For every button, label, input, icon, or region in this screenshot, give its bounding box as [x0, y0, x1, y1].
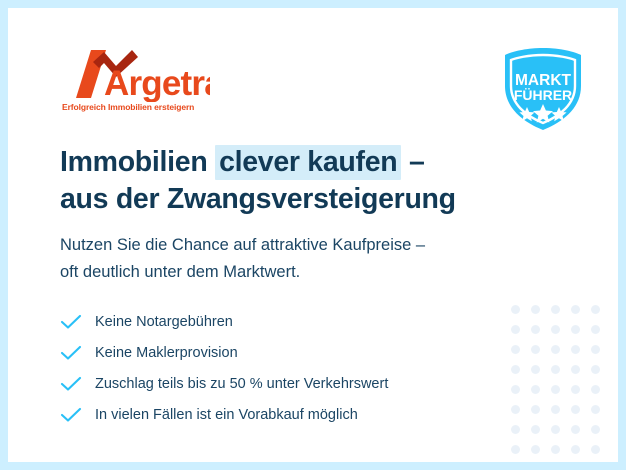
dot — [551, 365, 560, 374]
badge-line2: FÜHRER — [514, 87, 572, 103]
dot — [551, 445, 560, 454]
dot — [511, 425, 520, 434]
dot — [531, 425, 540, 434]
dot — [571, 425, 580, 434]
dot — [591, 365, 600, 374]
headline-line-1-after: – — [401, 146, 424, 178]
dot — [531, 445, 540, 454]
dot — [591, 305, 600, 314]
headline-line-2: aus der Zwangsversteigerung — [60, 181, 560, 218]
check-icon — [60, 345, 82, 361]
dot — [571, 345, 580, 354]
headline-line-1: Immobilien clever kaufen – — [60, 144, 560, 181]
dot — [531, 345, 540, 354]
list-item: In vielen Fällen ist ein Vorabkauf mögli… — [60, 399, 388, 430]
dot — [511, 385, 520, 394]
dot — [551, 425, 560, 434]
markt-fuehrer-badge: MARKT FÜHRER — [501, 46, 585, 132]
check-icon — [60, 314, 82, 330]
headline-highlight: clever kaufen — [215, 145, 401, 180]
list-item-label: Keine Notargebühren — [95, 314, 233, 330]
dot — [531, 405, 540, 414]
dot — [571, 305, 580, 314]
shield-icon: MARKT FÜHRER — [501, 46, 585, 132]
dot — [531, 365, 540, 374]
dot — [511, 305, 520, 314]
dot — [511, 405, 520, 414]
dot-grid-decoration — [506, 300, 606, 460]
dot — [511, 445, 520, 454]
check-icon — [60, 407, 82, 423]
dot — [591, 445, 600, 454]
dot — [511, 345, 520, 354]
subtitle-line-2: oft deutlich unter dem Marktwert. — [60, 259, 560, 286]
dot — [551, 305, 560, 314]
dot — [571, 385, 580, 394]
dot — [551, 325, 560, 334]
dot — [571, 405, 580, 414]
dot — [591, 345, 600, 354]
dot — [571, 445, 580, 454]
argetra-logo-mark: Argetra — [60, 50, 210, 102]
dot — [571, 325, 580, 334]
list-item: Keine Notargebühren — [60, 306, 388, 337]
argetra-logo[interactable]: Argetra Erfolgreich Immobilien ersteiger… — [60, 50, 210, 118]
list-item-label: Zuschlag teils bis zu 50 % unter Verkehr… — [95, 376, 388, 392]
dot — [511, 325, 520, 334]
list-item: Keine Maklerprovision — [60, 337, 388, 368]
dot — [571, 365, 580, 374]
dot — [591, 325, 600, 334]
dot — [511, 365, 520, 374]
dot — [591, 405, 600, 414]
headline-line-1-before: Immobilien — [60, 146, 215, 178]
dot — [551, 345, 560, 354]
dot — [531, 325, 540, 334]
argetra-logo-tagline: Erfolgreich Immobilien ersteigern — [62, 102, 194, 112]
promo-card: Argetra Erfolgreich Immobilien ersteiger… — [8, 8, 618, 462]
dot — [591, 385, 600, 394]
dot — [531, 385, 540, 394]
dot — [551, 405, 560, 414]
list-item-label: Keine Maklerprovision — [95, 345, 238, 361]
subtitle-line-1: Nutzen Sie die Chance auf attraktive Kau… — [60, 232, 560, 259]
list-item: Zuschlag teils bis zu 50 % unter Verkehr… — [60, 368, 388, 399]
svg-text:Argetra: Argetra — [104, 64, 210, 102]
dot — [531, 305, 540, 314]
check-icon — [60, 376, 82, 392]
page-title: Immobilien clever kaufen – aus der Zwang… — [60, 144, 560, 218]
list-item-label: In vielen Fällen ist ein Vorabkauf mögli… — [95, 407, 358, 423]
dot — [551, 385, 560, 394]
dot — [591, 425, 600, 434]
page-subtitle: Nutzen Sie die Chance auf attraktive Kau… — [60, 232, 560, 286]
benefit-list: Keine Notargebühren Keine Maklerprovisio… — [60, 306, 388, 430]
